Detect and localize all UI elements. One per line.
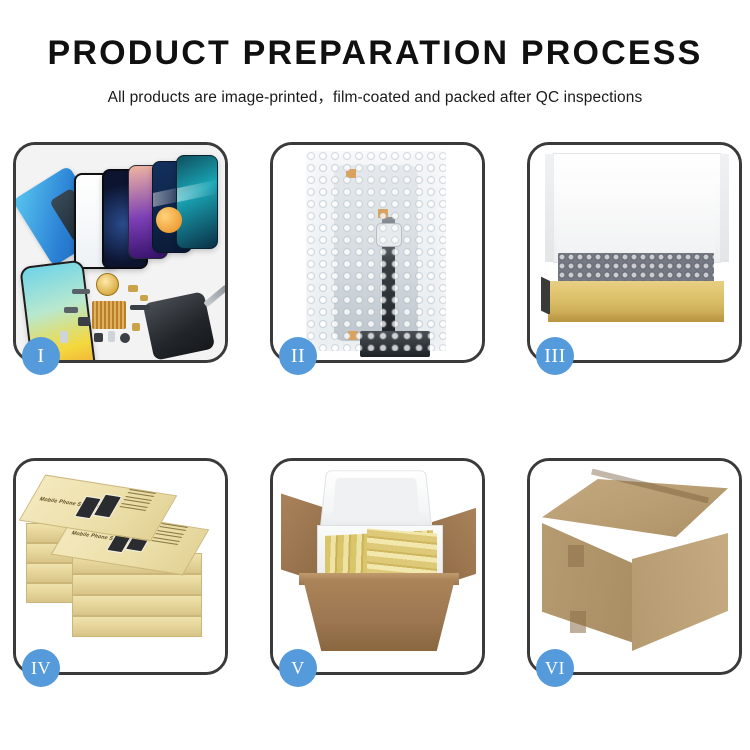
retail-box [72, 595, 202, 616]
carton-tape-lower [570, 611, 586, 633]
step-6-image [530, 461, 739, 672]
process-step-panel-6[interactable]: VI [527, 458, 742, 675]
stacked-retail-boxes-illustration: Mobile Phone Spare Parts Mobile Phone Sp… [16, 461, 225, 672]
process-step-panel-1[interactable]: I [13, 142, 228, 363]
gold-coil-part [96, 273, 119, 296]
phone-parts-assortment-illustration [16, 145, 225, 360]
foam-lid-inner [332, 478, 420, 521]
process-step-panel-2[interactable]: II [270, 142, 485, 363]
page-subtitle: All products are image-printed，film-coat… [0, 85, 750, 107]
bubble-wrapped-screen-illustration [273, 145, 482, 360]
screen-assembly [334, 165, 418, 341]
step-badge-2: II [279, 337, 317, 375]
process-steps-grid: I II [13, 142, 737, 675]
step-badge-6: VI [536, 649, 574, 687]
small-part [72, 289, 90, 294]
process-step-panel-5[interactable]: V [270, 458, 485, 675]
carton-top-face [542, 479, 728, 537]
retail-box [72, 574, 202, 595]
bubble-wrap-padding [558, 253, 714, 283]
step-3-image [530, 145, 739, 360]
yellow-kraft-tray [548, 281, 724, 315]
step-badge-3: III [536, 337, 574, 375]
carton-right-face [632, 533, 728, 651]
carton-left-face [542, 523, 634, 643]
foam-inner-liner [557, 181, 715, 255]
small-part [130, 305, 150, 310]
small-part [140, 295, 148, 301]
copper-chip-grid [92, 301, 126, 329]
small-part [64, 307, 78, 313]
tape-tab [348, 331, 358, 340]
single-unit-kraft-box-illustration [530, 145, 739, 360]
small-part [60, 331, 68, 343]
bubble-wrap-bag [306, 151, 446, 351]
step-2-image [273, 145, 482, 360]
lcd-screen-teal [176, 155, 218, 249]
carton-tape-upper [568, 545, 584, 567]
foam-carton-packing-illustration [273, 461, 482, 672]
step-badge-1: I [22, 337, 60, 375]
tape-tab [378, 209, 388, 218]
flex-connector [376, 223, 402, 247]
page-header: PRODUCT PREPARATION PROCESS All products… [0, 0, 750, 107]
sealed-shipping-carton-illustration [530, 461, 739, 672]
step-4-image: Mobile Phone Spare Parts Mobile Phone Sp… [16, 461, 225, 672]
small-part [128, 285, 138, 292]
small-part [78, 317, 90, 326]
process-step-panel-3[interactable]: III [527, 142, 742, 363]
carton-front-panel [303, 579, 455, 651]
small-part [120, 333, 130, 343]
small-part [108, 331, 115, 342]
small-part [132, 323, 140, 331]
step-1-image [16, 145, 225, 360]
retail-box [72, 616, 202, 637]
tweezer-tool [203, 285, 225, 308]
small-part [94, 333, 103, 342]
foam-lid [320, 470, 433, 531]
connector-bar [360, 331, 430, 357]
gold-boxes-row-right [367, 529, 437, 580]
tape-tab [346, 169, 356, 178]
process-step-panel-4[interactable]: Mobile Phone Spare Parts Mobile Phone Sp… [13, 458, 228, 675]
step-badge-5: V [279, 649, 317, 687]
step-5-image [273, 461, 482, 672]
step-badge-4: IV [22, 649, 60, 687]
page-title: PRODUCT PREPARATION PROCESS [0, 36, 750, 70]
orange-wallpaper-dot [156, 207, 182, 233]
